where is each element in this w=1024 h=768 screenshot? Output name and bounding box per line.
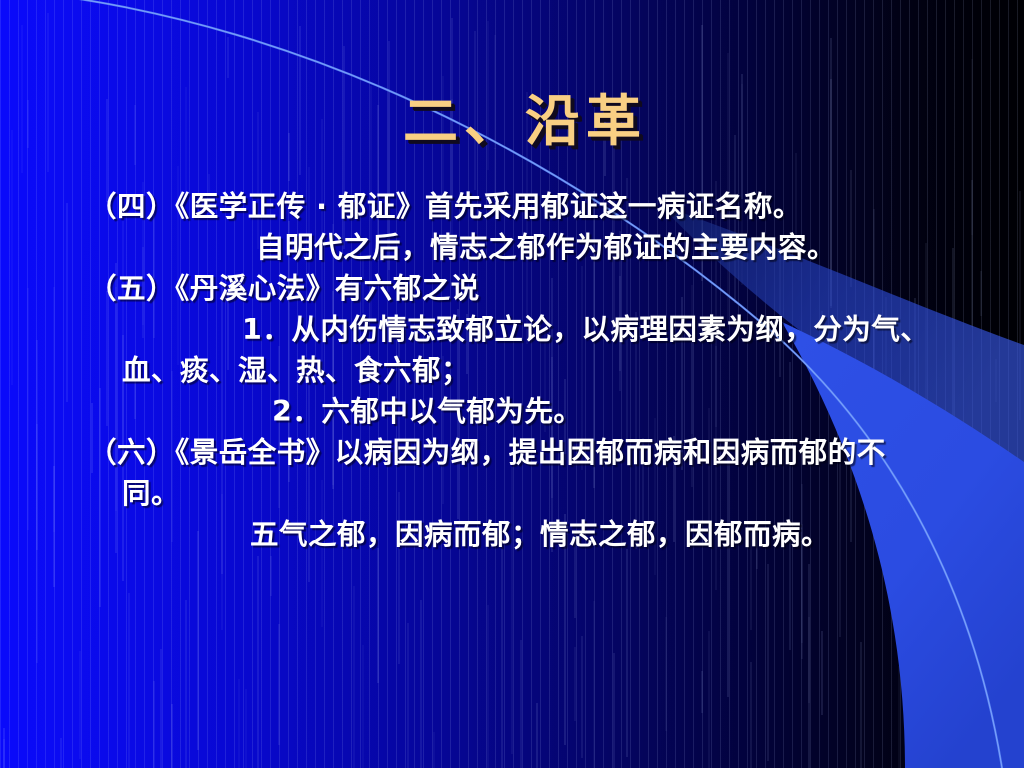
- body-paragraph: 五气之郁，因病而郁；情志之郁，因郁而病。: [88, 514, 936, 555]
- slide-body-text: （四）《医学正传 · 郁证》首先采用郁证这一病证名称。 自明代之后，情志之郁作为…: [88, 186, 936, 555]
- body-paragraph: （四）《医学正传 · 郁证》首先采用郁证这一病证名称。: [88, 186, 936, 227]
- body-paragraph: （六）《景岳全书》以病因为纲，提出因郁而病和因病而郁的不同。: [88, 432, 936, 514]
- body-paragraph: 1．从内伤情志致郁立论，以病理因素为纲，分为气、血、痰、湿、热、食六郁；: [88, 309, 936, 391]
- body-paragraph: （五）《丹溪心法》有六郁之说: [88, 268, 936, 309]
- body-paragraph: 2．六郁中以气郁为先。: [88, 391, 936, 432]
- body-paragraph: 自明代之后，情志之郁作为郁证的主要内容。: [88, 227, 936, 268]
- slide-title: 二、沿革: [0, 76, 1024, 156]
- presentation-slide: 二、沿革 （四）《医学正传 · 郁证》首先采用郁证这一病证名称。 自明代之后，情…: [0, 0, 1024, 768]
